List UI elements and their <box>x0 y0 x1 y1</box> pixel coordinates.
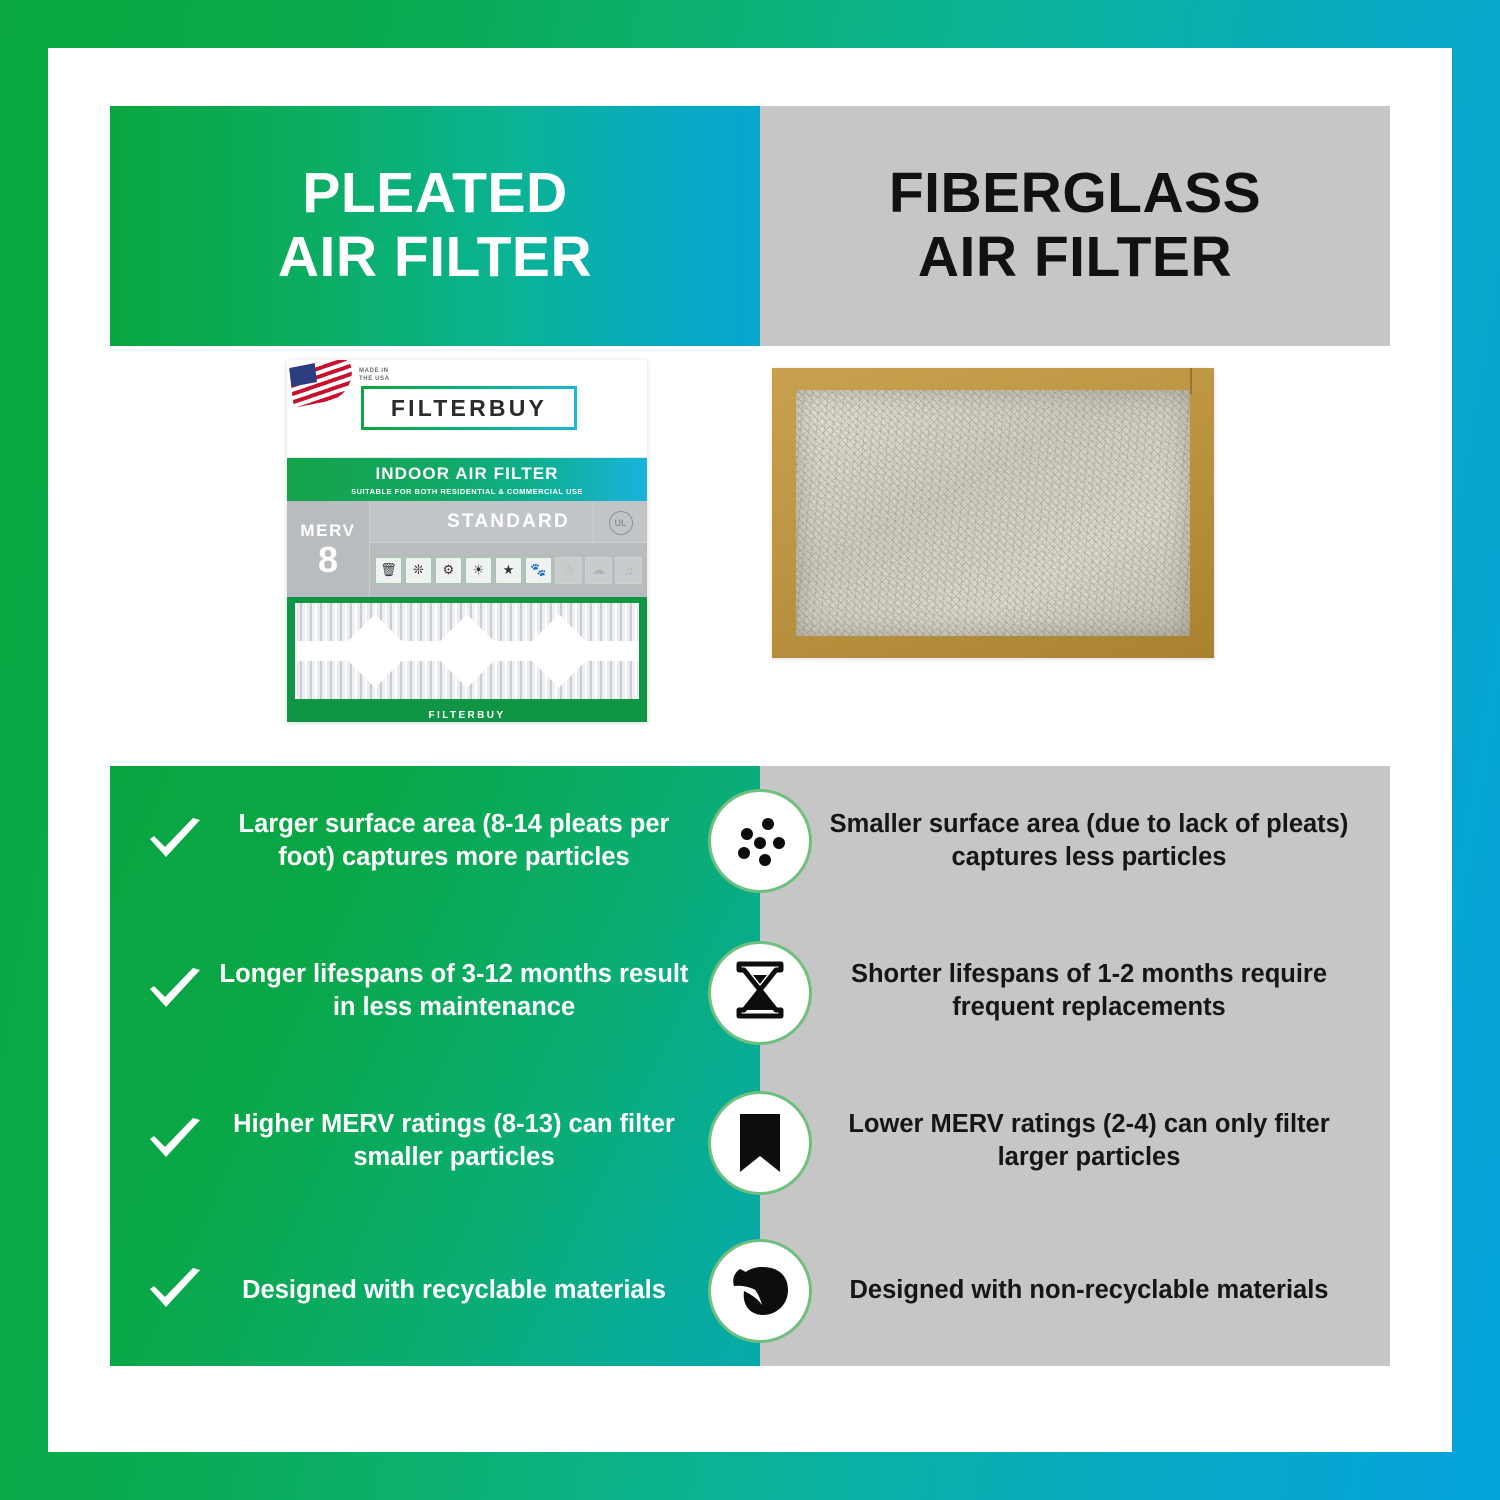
pet-dander-icon: 🐾 <box>525 557 552 584</box>
smoke-icon: ☀ <box>465 557 492 584</box>
feature-text-left: Higher MERV ratings (8-13) can filter sm… <box>212 1108 696 1174</box>
feature-text-left: Larger surface area (8-14 pleats per foo… <box>212 808 696 874</box>
ul-logo-text: UL <box>609 511 633 535</box>
pleated-benefits-column: Larger surface area (8-14 pleats per foo… <box>110 766 760 1366</box>
header-row: PLEATED AIR FILTER FIBERGLASS AIR FILTER <box>110 106 1390 346</box>
box-top-section: MADE IN THE USA FILTERBUY <box>287 360 647 458</box>
filterbuy-logo: FILTERBUY <box>361 386 577 430</box>
ul-certification-mark: UL <box>593 501 647 544</box>
fiberglass-product-cell <box>760 346 1390 766</box>
comparison-row: Higher MERV ratings (8-13) can filter sm… <box>110 1066 760 1216</box>
checkmark-icon <box>138 1117 212 1165</box>
feature-text-right: Lower MERV ratings (2-4) can only filter… <box>824 1108 1354 1174</box>
fiberglass-filter-photo <box>772 368 1214 658</box>
feature-text-right: Shorter lifespans of 1-2 months require … <box>824 958 1354 1024</box>
feature-text-left: Designed with recyclable materials <box>212 1274 696 1307</box>
merv-label: MERV <box>300 521 355 541</box>
product-image-row: MADE IN THE USA FILTERBUY INDOOR AIR FIL… <box>110 346 1390 766</box>
bookmark-icon <box>708 1091 812 1195</box>
indoor-air-filter-band: INDOOR AIR FILTER SUITABLE FOR BOTH RESI… <box>287 458 647 501</box>
virus-icon-dim: ☃ <box>555 557 582 584</box>
checkmark-icon <box>138 817 212 865</box>
comparison-row: Designed with non-recyclable materials <box>760 1216 1390 1366</box>
merv-value: 8 <box>318 542 338 578</box>
checkmark-icon <box>138 1267 212 1315</box>
feature-text-right: Smaller surface area (due to lack of ple… <box>824 808 1354 874</box>
merv-rating-block: MERV 8 <box>287 501 370 597</box>
capability-icon-strip: 🗑 ❊ ⚙ ☀ ★ 🐾 ☃ ☁ ♫ <box>370 543 647 597</box>
pleated-media-view: FILTERBUY <box>287 597 647 722</box>
smog-icon-dim: ☁ <box>585 557 612 584</box>
usa-flag-icon <box>289 360 355 408</box>
pleated-header-title: PLEATED AIR FILTER <box>278 162 592 290</box>
fiberglass-drawbacks-column: Smaller surface area (due to lack of ple… <box>760 766 1390 1366</box>
filterbuy-product-box: MADE IN THE USA FILTERBUY INDOOR AIR FIL… <box>287 360 647 722</box>
comparison-row: Larger surface area (8-14 pleats per foo… <box>110 766 760 916</box>
fiberglass-mesh-texture <box>796 390 1190 636</box>
comparison-row: Lower MERV ratings (2-4) can only filter… <box>760 1066 1390 1216</box>
box-spec-section: MERV 8 STANDARD 🗑 ❊ ⚙ ☀ ★ 🐾 <box>287 501 647 597</box>
gradient-border-frame: PLEATED AIR FILTER FIBERGLASS AIR FILTER… <box>0 0 1500 1500</box>
comparison-row: Longer lifespans of 3-12 months result i… <box>110 916 760 1066</box>
frame-brand-label: FILTERBUY <box>287 710 647 721</box>
checkmark-icon <box>138 967 212 1015</box>
comparison-row: Designed with recyclable materials <box>110 1216 760 1366</box>
made-in-usa-label: MADE IN THE USA <box>359 367 390 383</box>
bacteria-icon: ★ <box>495 557 522 584</box>
comparison-row: Smaller surface area (due to lack of ple… <box>760 766 1390 916</box>
fiberglass-header-title: FIBERGLASS AIR FILTER <box>889 162 1261 290</box>
support-diamond <box>338 614 412 688</box>
pleated-product-cell: MADE IN THE USA FILTERBUY INDOOR AIR FIL… <box>110 346 760 766</box>
mold-icon: ⚙ <box>435 557 462 584</box>
fiberglass-header-panel: FIBERGLASS AIR FILTER <box>760 106 1390 346</box>
hourglass-icon <box>708 941 812 1045</box>
infographic-page: PLEATED AIR FILTER FIBERGLASS AIR FILTER… <box>48 48 1452 1452</box>
band-subtitle: SUITABLE FOR BOTH RESIDENTIAL & COMMERCI… <box>351 487 583 496</box>
feature-text-left: Longer lifespans of 3-12 months result i… <box>212 958 696 1024</box>
band-title: INDOOR AIR FILTER <box>375 464 558 484</box>
pleated-header-panel: PLEATED AIR FILTER <box>110 106 760 346</box>
pleat-texture <box>295 603 639 699</box>
support-diamond <box>430 614 504 688</box>
odor-icon-dim: ♫ <box>615 557 642 584</box>
pollen-icon: ❊ <box>405 557 432 584</box>
support-diamond <box>522 614 596 688</box>
feature-text-right: Designed with non-recyclable materials <box>824 1274 1354 1307</box>
dust-mite-icon: 🗑 <box>375 557 402 584</box>
filterbuy-logo-text: FILTERBUY <box>391 395 547 422</box>
comparison-row: Shorter lifespans of 1-2 months require … <box>760 916 1390 1066</box>
leaves-icon <box>708 1239 812 1343</box>
particles-icon <box>708 789 812 893</box>
